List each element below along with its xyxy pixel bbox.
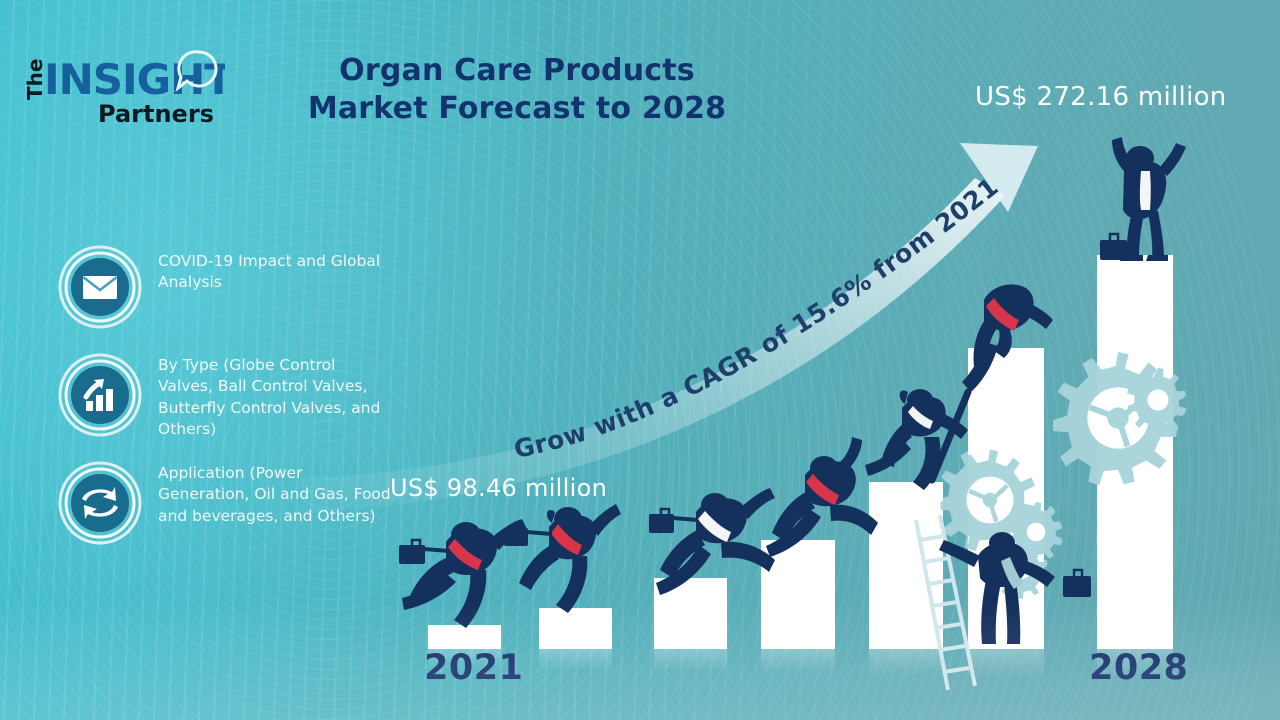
victory-figure: [1100, 137, 1186, 261]
end-value-label: US$ 272.16 million: [975, 82, 1265, 112]
infographic-canvas: The INSIGHT Partners Organ Care Products…: [0, 0, 1280, 720]
start-value-label: US$ 98.46 million: [390, 474, 690, 502]
runner-figure: [766, 437, 878, 557]
floor-reflection: [0, 600, 1280, 720]
